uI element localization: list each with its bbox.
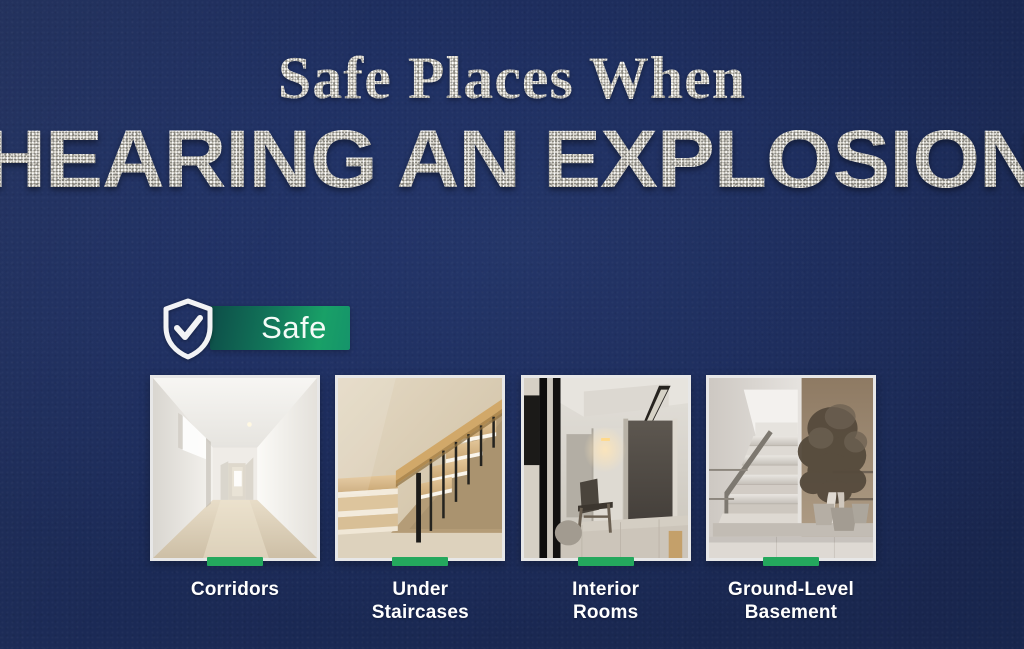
safe-badge-pill: Safe xyxy=(210,306,350,350)
title-line-headline: HEARING AN EXPLOSION xyxy=(0,119,1024,201)
photo-corridor xyxy=(153,378,317,558)
safe-badge: Safe xyxy=(160,296,216,362)
title-line-primary: Safe Places When xyxy=(0,48,1024,109)
card-label-line1: Interior xyxy=(513,578,699,601)
photo-interior-room xyxy=(524,378,688,558)
card-corridors[interactable] xyxy=(150,375,320,561)
card-label-ground-level-basement: Ground-Level Basement xyxy=(698,578,884,625)
card-label-corridors: Corridors xyxy=(142,578,328,625)
infographic-poster: Safe Places When HEARING AN EXPLOSION Sa… xyxy=(0,0,1024,649)
photo-staircase xyxy=(338,378,502,558)
shield-check-icon xyxy=(160,297,216,361)
safe-badge-label: Safe xyxy=(210,310,350,346)
card-ground-level-basement[interactable] xyxy=(706,375,876,561)
photo-basement-stairs xyxy=(709,378,873,558)
accent-bar xyxy=(207,557,263,566)
card-interior-rooms[interactable] xyxy=(521,375,691,561)
card-label-line1: Ground-Level xyxy=(698,578,884,601)
accent-bar xyxy=(578,557,634,566)
accent-bar xyxy=(763,557,819,566)
card-label-line2: Staircases xyxy=(327,601,513,624)
safe-places-card-row xyxy=(150,375,876,561)
title-block: Safe Places When HEARING AN EXPLOSION xyxy=(0,48,1024,201)
accent-bar-slot-under-staircases xyxy=(335,557,505,567)
card-label-interior-rooms: Interior Rooms xyxy=(513,578,699,625)
card-label-line1: Under xyxy=(327,578,513,601)
accent-bar-slot-corridors xyxy=(150,557,320,567)
card-label-line1: Corridors xyxy=(142,578,328,601)
card-label-line2: Basement xyxy=(698,601,884,624)
accent-bar-slot-ground-level-basement xyxy=(706,557,876,567)
card-label-under-staircases: Under Staircases xyxy=(327,578,513,625)
card-label-row: Corridors Under Staircases Interior Room… xyxy=(150,578,876,625)
card-label-line2: Rooms xyxy=(513,601,699,624)
accent-bar-row xyxy=(150,557,876,567)
accent-bar xyxy=(392,557,448,566)
accent-bar-slot-interior-rooms xyxy=(521,557,691,567)
card-under-staircases[interactable] xyxy=(335,375,505,561)
